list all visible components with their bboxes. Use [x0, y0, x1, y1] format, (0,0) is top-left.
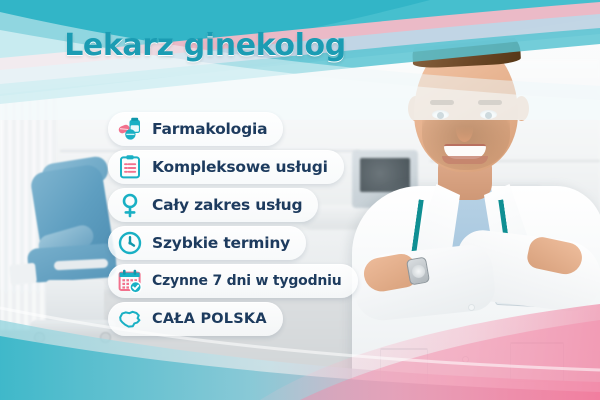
poland-map-icon [117, 306, 143, 332]
feature-item-farmakologia[interactable]: Farmakologia [108, 112, 283, 146]
feature-item-kompleksowe-uslugi[interactable]: Kompleksowe usługi [108, 150, 344, 184]
coat-pocket [380, 348, 428, 388]
pupil [485, 112, 492, 119]
wristwatch [406, 256, 430, 285]
feature-item-czynne-7-dni[interactable]: Czynne 7 dni w tygodniu [108, 264, 358, 298]
page-title: Lekarz ginekolog [0, 28, 410, 63]
nose [456, 116, 473, 142]
advertising-banner: Lekarz ginekolog Farmakologia [0, 0, 600, 400]
feature-label: Farmakologia [152, 120, 267, 138]
feature-label: Czynne 7 dni w tygodniu [152, 273, 342, 289]
feature-label: CAŁA POLSKA [152, 311, 267, 327]
venus-icon [117, 192, 143, 218]
calendar-check-icon [117, 268, 143, 294]
eyebrow [478, 100, 502, 105]
chair-column [46, 280, 104, 324]
eyebrow [430, 100, 454, 105]
feature-label: Kompleksowe usługi [152, 158, 328, 176]
lower-lip [442, 156, 488, 164]
clock-icon [117, 230, 143, 256]
chair-wheel [34, 332, 45, 343]
coat-button [468, 304, 475, 311]
feature-label: Szybkie terminy [152, 234, 290, 252]
pills-icon [117, 116, 143, 142]
hair-fringe [411, 19, 521, 69]
feature-label: Cały zakres usług [152, 196, 302, 214]
clipboard-icon [117, 154, 143, 180]
feature-list: Farmakologia Kompleksowe usługi [108, 112, 370, 336]
feature-item-cala-polska[interactable]: CAŁA POLSKA [108, 302, 283, 336]
eye [432, 110, 449, 119]
doctor-photo [352, 4, 600, 400]
coat-button [462, 356, 469, 363]
pupil [437, 112, 444, 119]
eye [480, 110, 497, 119]
feature-item-caly-zakres-uslug[interactable]: Cały zakres usług [108, 188, 318, 222]
chair-tray [9, 263, 37, 286]
coat-pocket [510, 342, 564, 382]
feature-item-szybkie-terminy[interactable]: Szybkie terminy [108, 226, 306, 260]
